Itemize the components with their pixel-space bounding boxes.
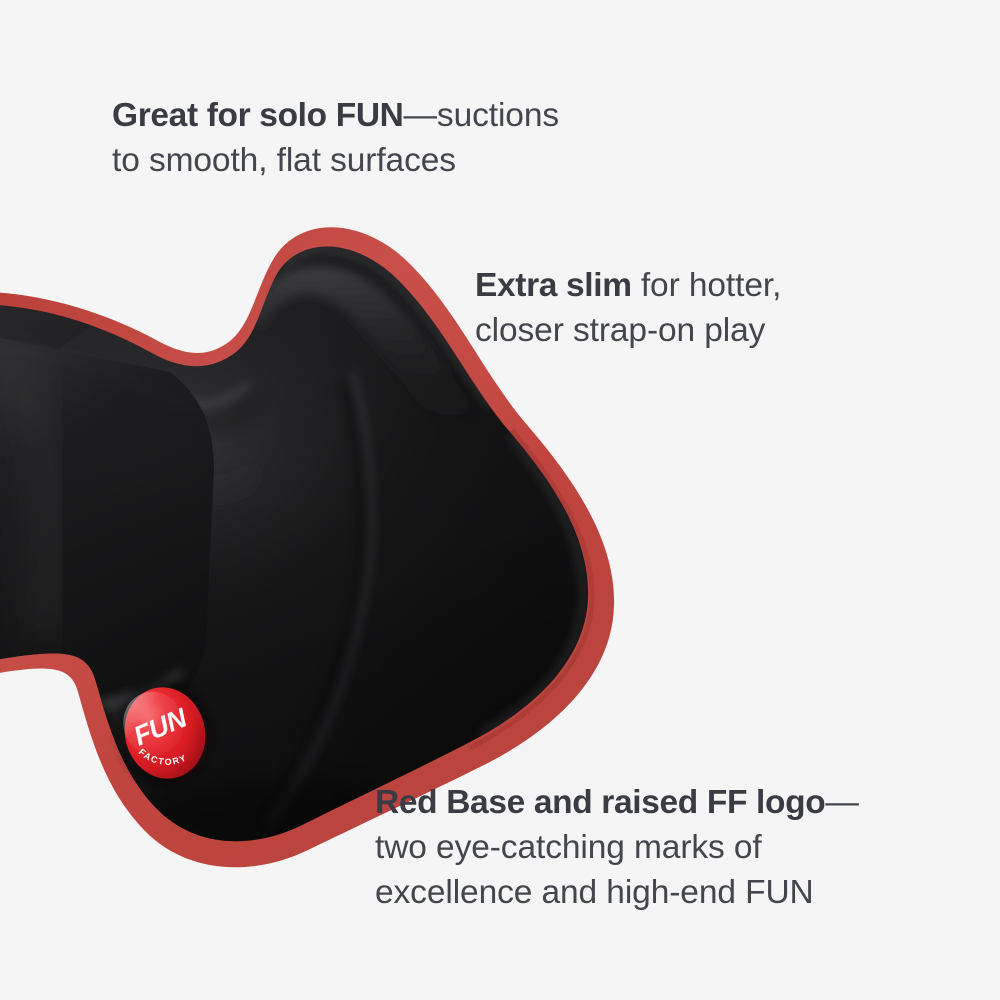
callout-extra-slim: Extra slim for hotter, closer strap-on p… <box>475 263 781 353</box>
callout-red-base-line1: Red Base and raised FF logo— <box>375 780 859 825</box>
fun-factory-logo-badge: FUN FACTORY <box>103 667 227 800</box>
callout-red-base-lead-suffix: — <box>825 784 858 821</box>
infographic-canvas: FUN FACTORY Great for solo FUN—suctions … <box>0 0 1000 1000</box>
callout-red-base-line3: excellence and high-end FUN <box>375 870 859 915</box>
callout-solo-fun-lead: Great for solo FUN <box>112 97 404 134</box>
callout-extra-slim-lead-suffix: for hotter, <box>632 267 782 304</box>
logo-fun-text: FUN <box>129 702 191 751</box>
callout-red-base-lead: Red Base and raised FF logo <box>375 784 825 821</box>
callout-red-base-line2: two eye-catching marks of <box>375 825 859 870</box>
callout-extra-slim-line2: closer strap-on play <box>475 308 781 353</box>
callout-extra-slim-lead: Extra slim <box>475 267 632 304</box>
callout-solo-fun-line1: Great for solo FUN—suctions <box>112 93 559 138</box>
callout-solo-fun: Great for solo FUN—suctions to smooth, f… <box>112 93 559 183</box>
callout-red-base: Red Base and raised FF logo— two eye-cat… <box>375 780 859 915</box>
callout-solo-fun-lead-suffix: —suctions <box>404 97 560 134</box>
callout-extra-slim-line1: Extra slim for hotter, <box>475 263 781 308</box>
callout-solo-fun-line2: to smooth, flat surfaces <box>112 138 559 183</box>
logo-factory-text: FACTORY <box>135 737 189 775</box>
